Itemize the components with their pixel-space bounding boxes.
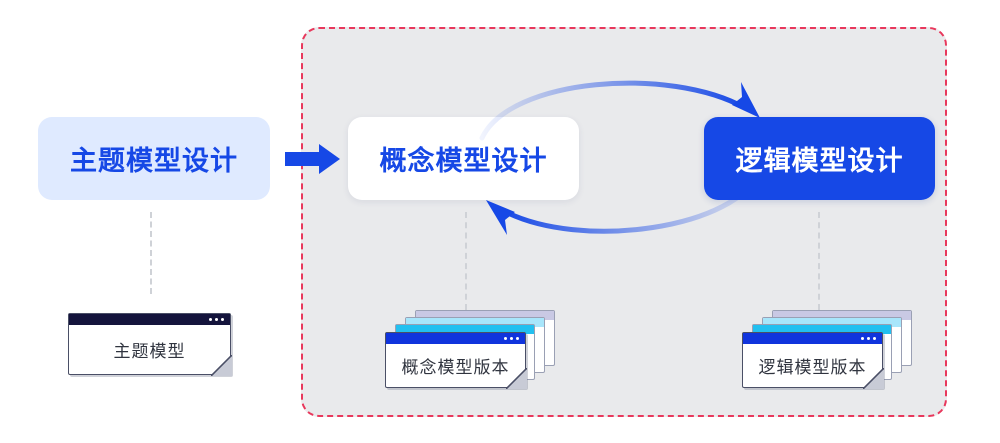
artifact-label-theme-model: 主题模型 xyxy=(69,325,230,374)
doc-titlebar-theme xyxy=(69,314,230,325)
phase-box-logical[interactable]: 逻辑模型设计 xyxy=(704,117,935,200)
window-dot-icon xyxy=(861,337,864,340)
window-dot-icon xyxy=(510,337,513,340)
window-dot-icon xyxy=(215,318,218,321)
page-fold-icon xyxy=(863,368,884,389)
artifact-label-logical-versions: 逻辑模型版本 xyxy=(743,344,882,387)
phase-box-concept[interactable]: 概念模型设计 xyxy=(348,117,579,200)
doc-front-theme: 主题模型 xyxy=(68,313,231,375)
artifact-card-concept-versions[interactable]: 概念模型版本 xyxy=(385,310,555,380)
block-arrow-right-icon xyxy=(285,143,341,175)
connector-concept xyxy=(465,212,467,310)
page-fold-icon xyxy=(506,368,527,389)
artifact-card-logical-versions[interactable]: 逻辑模型版本 xyxy=(742,310,912,380)
window-dot-icon xyxy=(867,337,870,340)
window-dot-icon xyxy=(221,318,224,321)
doc-front-logical: 逻辑模型版本 xyxy=(742,332,883,388)
window-dot-icon xyxy=(504,337,507,340)
phase-label-concept: 概念模型设计 xyxy=(380,139,548,178)
phase-box-theme[interactable]: 主题模型设计 xyxy=(38,117,270,200)
doc-titlebar-logical xyxy=(743,333,882,344)
connector-theme xyxy=(150,212,152,294)
artifact-card-theme-model[interactable]: 主题模型 xyxy=(68,313,231,375)
doc-titlebar-concept xyxy=(386,333,525,344)
phase-label-theme: 主题模型设计 xyxy=(70,139,238,178)
window-dot-icon xyxy=(209,318,212,321)
page-fold-icon xyxy=(211,355,232,376)
window-dot-icon xyxy=(873,337,876,340)
phase-label-logical: 逻辑模型设计 xyxy=(736,139,904,178)
connector-logical xyxy=(818,212,820,310)
window-dot-icon xyxy=(516,337,519,340)
artifact-label-concept-versions: 概念模型版本 xyxy=(386,344,525,387)
doc-front-concept: 概念模型版本 xyxy=(385,332,526,388)
diagram-canvas: 主题模型设计 概念模型设计 逻辑模型设计 xyxy=(0,0,1000,443)
